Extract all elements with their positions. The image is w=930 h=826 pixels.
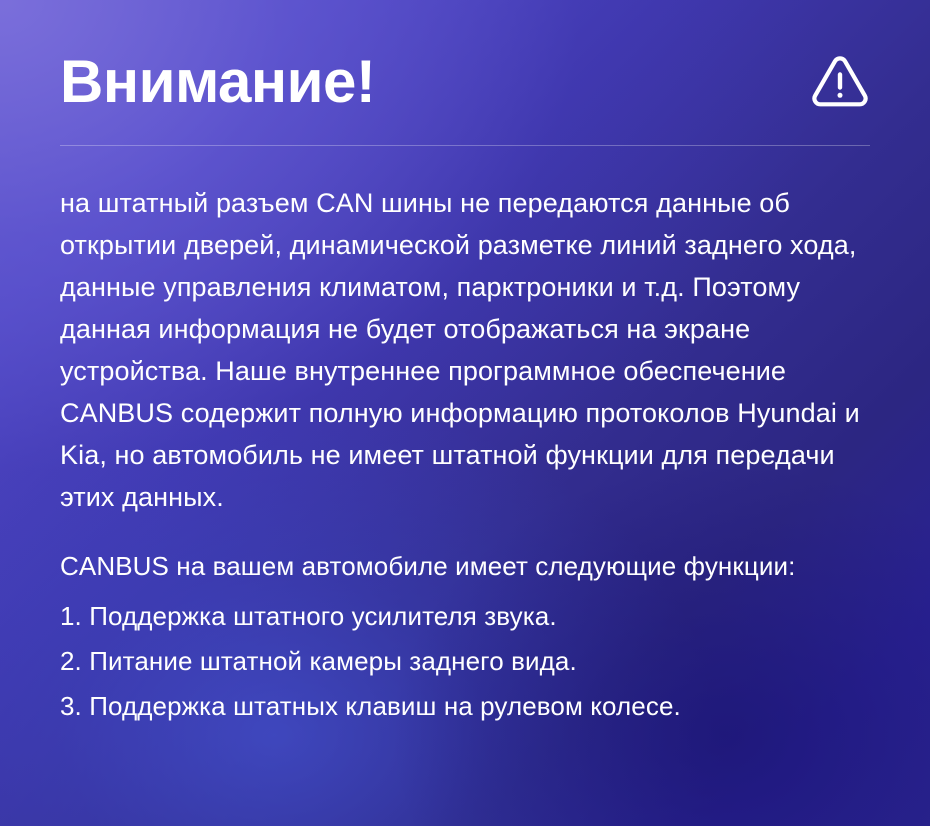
functions-section: CANBUS на вашем автомобиле имеет следующ… xyxy=(60,518,870,729)
list-item: 2. Питание штатной камеры заднего вида. xyxy=(60,639,870,684)
list-item: 3. Поддержка штатных клавиш на рулевом к… xyxy=(60,684,870,729)
card-header: Внимание! xyxy=(60,0,870,145)
card-content: Внимание! на штатный разъем CAN шины не … xyxy=(0,0,930,729)
list-item: 1. Поддержка штатного усилителя звука. xyxy=(60,594,870,639)
page-title: Внимание! xyxy=(60,52,375,112)
warning-notice-card: Внимание! на штатный разъем CAN шины не … xyxy=(0,0,930,826)
notice-paragraph: на штатный разъем CAN шины не передаются… xyxy=(60,182,870,518)
functions-heading: CANBUS на вашем автомобиле имеет следующ… xyxy=(60,544,870,588)
notice-body: на штатный разъем CAN шины не передаются… xyxy=(60,146,870,518)
functions-list: 1. Поддержка штатного усилителя звука. 2… xyxy=(60,594,870,729)
warning-triangle-icon xyxy=(812,56,868,108)
